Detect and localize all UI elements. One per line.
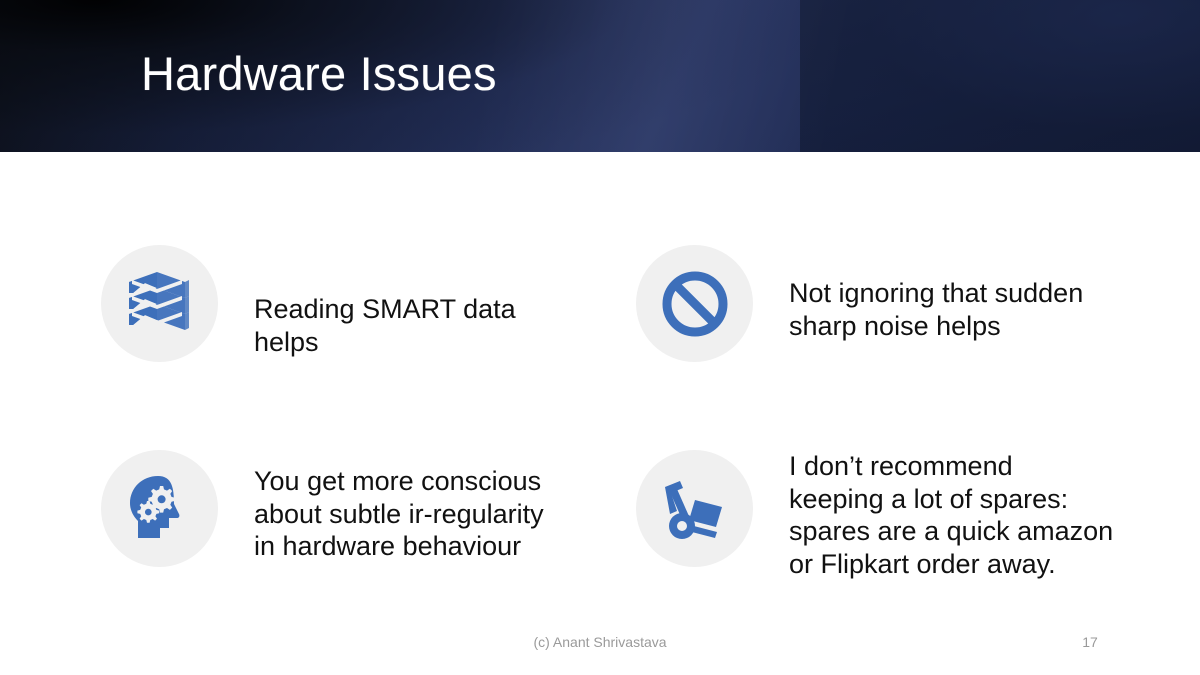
content-item-1-text: Reading SMART data helps [254,293,571,358]
content-item-2-text: Not ignoring that sudden sharp noise hel… [789,277,1083,342]
content-item-1: Reading SMART data helps [101,245,571,362]
content-item-4: I don’t recommend keeping a lot of spare… [636,450,1116,580]
content-item-2: Not ignoring that sudden sharp noise hel… [636,245,1116,362]
head-with-gears-icon [101,450,218,567]
content-item-4-text: I don’t recommend keeping a lot of spare… [789,450,1113,580]
header-background-right [800,0,1200,152]
slide-content: Reading SMART data helps Not ignoring th… [0,152,1200,612]
books-stack-icon [101,245,218,362]
slide-page-number: 17 [1060,634,1120,650]
hand-truck-icon [636,450,753,567]
content-item-3: You get more conscious about subtle ir-r… [101,450,571,567]
slide-title: Hardware Issues [141,45,497,103]
presentation-slide: Hardware Issues [0,0,1200,675]
footer-credit: (c) Anant Shrivastava [0,634,1200,650]
content-item-3-text: You get more conscious about subtle ir-r… [254,465,544,563]
slide-header-band: Hardware Issues [0,0,1200,152]
prohibited-sign-icon [636,245,753,362]
